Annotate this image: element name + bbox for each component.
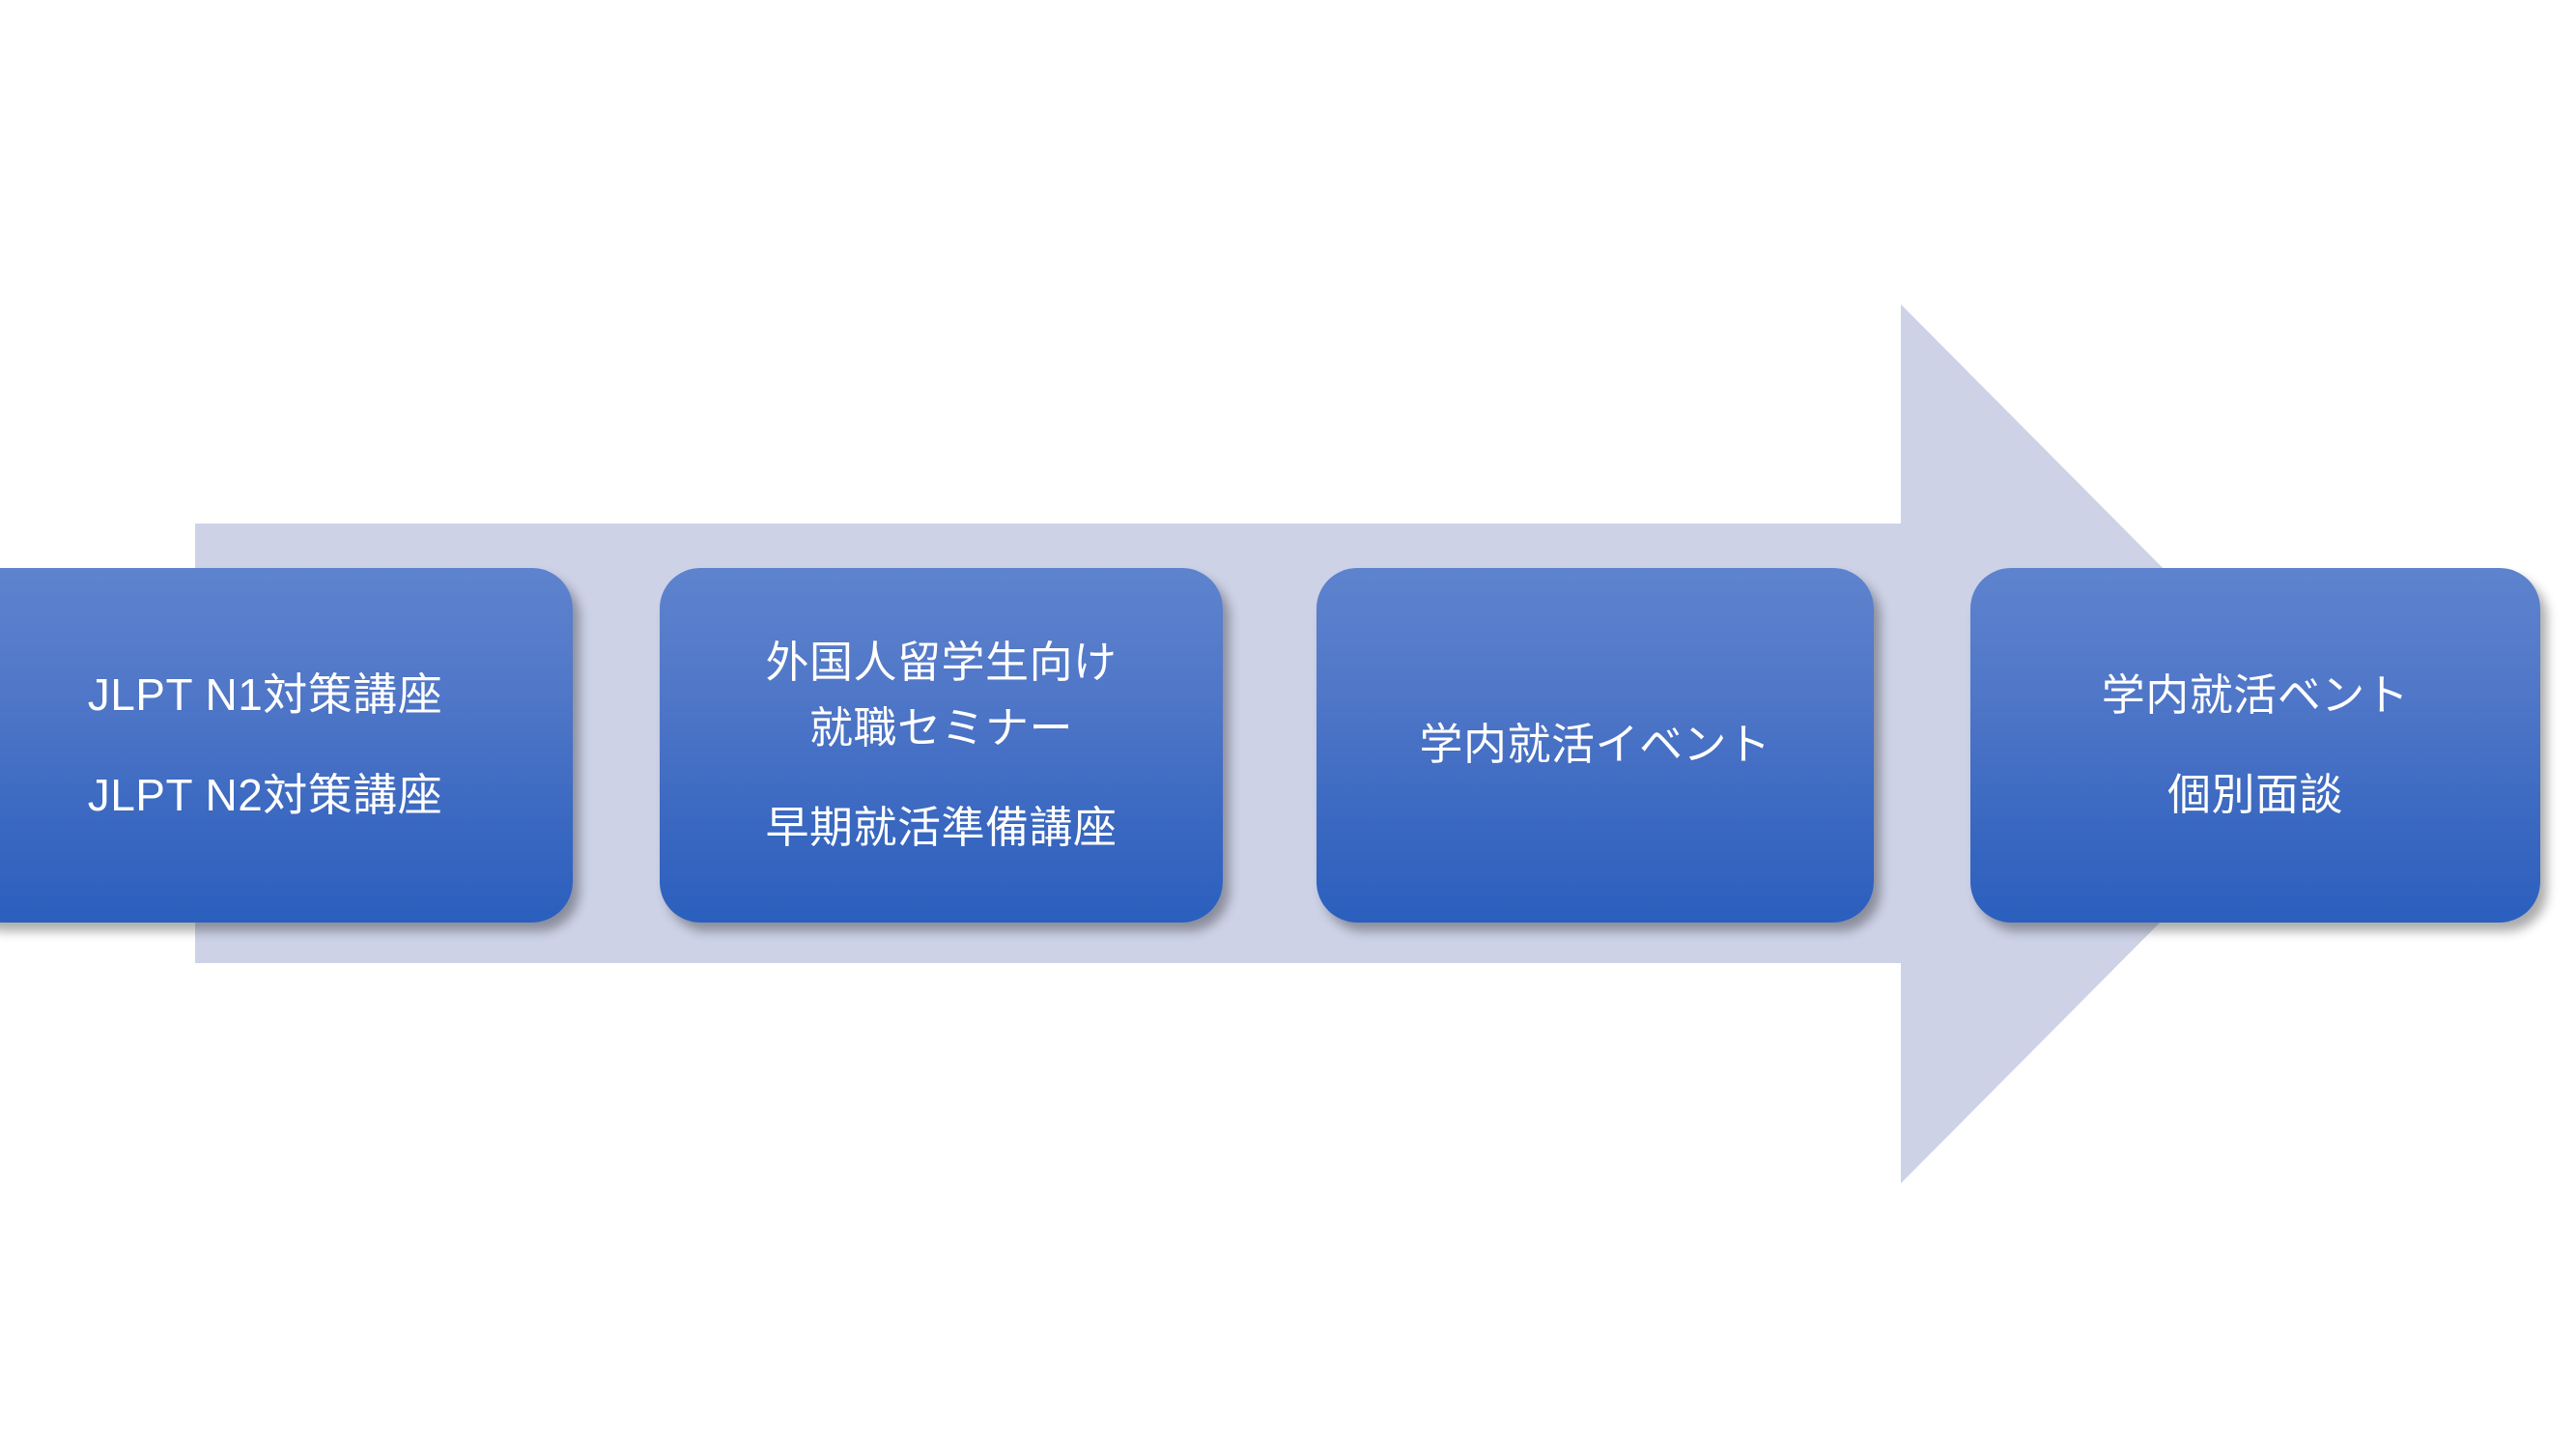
stage-box-jlpt-courses[interactable]: JLPT N1対策講座 JLPT N2対策講座 — [0, 568, 573, 923]
stage-1-line-1: JLPT N1対策講座 — [0, 662, 573, 729]
stage-1-line-2: JLPT N2対策講座 — [0, 762, 573, 830]
stage-4-line-2: 個別面談 — [1970, 762, 2540, 828]
stage-box-on-campus-event-and-interview[interactable]: 学内就活ベント 個別面談 — [1970, 568, 2540, 923]
stage-box-international-student-job-seminar[interactable]: 外国人留学生向け 就職セミナー 早期就活準備講座 — [660, 568, 1223, 923]
diagram-canvas: JLPT N1対策講座 JLPT N2対策講座 外国人留学生向け 就職セミナー … — [0, 0, 2576, 1449]
stage-4-line-1: 学内就活ベント — [1970, 663, 2540, 728]
stage-2-line-1: 外国人留学生向け — [660, 630, 1223, 696]
stage-2-line-3: 早期就活準備講座 — [660, 795, 1223, 861]
stage-3-line-1: 学内就活イベント — [1316, 712, 1874, 778]
stage-2-line-2: 就職セミナー — [660, 696, 1223, 761]
stage-box-on-campus-job-event[interactable]: 学内就活イベント — [1316, 568, 1874, 923]
